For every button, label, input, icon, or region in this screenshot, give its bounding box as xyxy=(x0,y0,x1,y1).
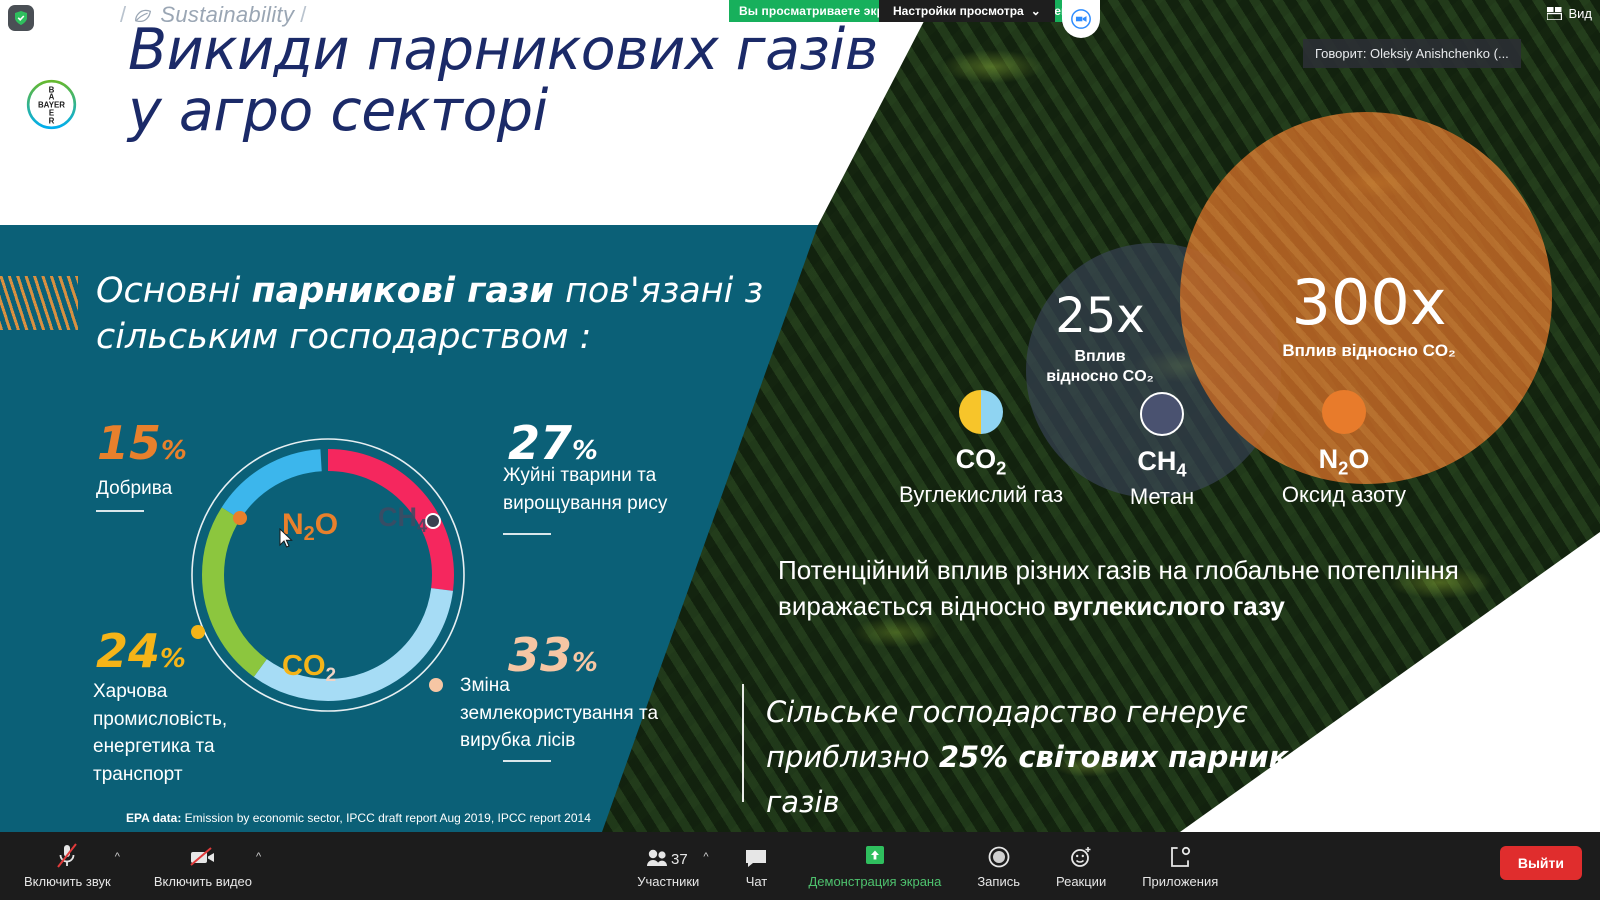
record-label: Запись xyxy=(977,874,1020,889)
quote-accent-bar xyxy=(742,684,744,802)
participants-button[interactable]: 37 Участники xyxy=(637,843,699,889)
co2-formula: CO2 xyxy=(888,446,1074,478)
marker-24 xyxy=(191,625,205,639)
n2o-formula: N2O xyxy=(1258,446,1430,478)
source-citation: EPA data: Emission by economic sector, I… xyxy=(126,811,591,825)
view-settings-label: Настройки просмотра xyxy=(893,4,1024,18)
slide-title-line1: Викиди парникових газів xyxy=(128,17,878,83)
shared-slide: B A BAYER E R / Sustainability / Викиди … xyxy=(0,0,1600,832)
quote-bold: 25% світових парникових xyxy=(939,740,1366,774)
audio-options-caret[interactable]: ^ xyxy=(115,851,120,863)
section-heading-pre: Основні xyxy=(96,271,251,311)
share-screen-icon xyxy=(862,843,888,869)
n2o-sub: Вплив відносно CO₂ xyxy=(1238,341,1500,362)
n2o-multiplier: 300х xyxy=(1238,272,1500,334)
apps-label: Приложения xyxy=(1142,874,1218,889)
active-speaker-text: Говорит: Oleksiy Anishchenko (... xyxy=(1315,46,1509,61)
donut-rule-15 xyxy=(96,510,144,512)
marker-27 xyxy=(426,514,440,528)
donut-value-27: 27% xyxy=(508,420,598,466)
n2o-dot-icon xyxy=(1322,390,1366,434)
ch4-formula: CH4 xyxy=(1100,448,1224,480)
venn-label-n2o: 300х Вплив відносно CO₂ xyxy=(1238,272,1500,362)
reactions-button[interactable]: Реакции xyxy=(1056,843,1106,889)
venn-label-ch4: 25х Вплив відносно CO₂ xyxy=(1040,292,1160,386)
gas-legend-co2: CO2 Вуглекислий газ xyxy=(888,390,1074,508)
video-options-caret[interactable]: ^ xyxy=(256,851,261,863)
start-video-button[interactable]: Включить видео xyxy=(154,843,252,889)
co2-name: Вуглекислий газ xyxy=(888,482,1074,508)
start-video-label: Включить видео xyxy=(154,874,252,889)
donut-value-24: 24% xyxy=(96,628,186,674)
section-heading-bold: парникові гази xyxy=(251,271,553,311)
source-bold: EPA data: xyxy=(126,811,181,825)
gwp-note: Потенційний вплив різних газів на глобал… xyxy=(778,552,1494,625)
unmute-button[interactable]: Включить звук xyxy=(24,843,111,889)
share-screen-label: Демонстрация экрана xyxy=(808,874,941,889)
share-screen-button[interactable]: Демонстрация экрана xyxy=(808,843,941,889)
donut-rule-27 xyxy=(503,533,551,535)
donut-label-15: Добрива xyxy=(96,475,286,503)
donut-label-27: Жуйні тварини та вирощування рису xyxy=(503,462,703,517)
screen: B A BAYER E R / Sustainability / Викиди … xyxy=(0,0,1600,900)
view-layout-button[interactable]: Вид xyxy=(1547,6,1592,21)
reactions-label: Реакции xyxy=(1056,874,1106,889)
svg-text:37: 37 xyxy=(671,851,688,868)
chat-icon xyxy=(744,843,768,869)
camera-muted-icon xyxy=(189,843,217,869)
chat-button[interactable]: Чат xyxy=(744,843,768,889)
apps-button[interactable]: Приложения xyxy=(1142,843,1218,889)
bayer-logo: B A BAYER E R xyxy=(25,78,78,131)
gwp-note-bold: вуглекислого газу xyxy=(1053,591,1285,621)
donut-label-33: Зміна землекористування та вирубка лісів xyxy=(460,672,660,755)
agriculture-quote: Сільське господарство генерує приблизно … xyxy=(766,690,1406,825)
leave-meeting-button[interactable]: Выйти xyxy=(1500,846,1582,880)
marker-15 xyxy=(233,511,247,525)
participants-label: Участники xyxy=(637,874,699,889)
reactions-icon xyxy=(1069,843,1093,869)
microphone-muted-icon xyxy=(55,843,79,869)
unmute-label: Включить звук xyxy=(24,874,111,889)
record-button[interactable]: Запись xyxy=(977,843,1020,889)
donut-rule-33 xyxy=(503,760,551,762)
record-icon xyxy=(987,843,1011,869)
participants-icon: 37 xyxy=(646,843,690,869)
donut-label-24: Харчова промисловість, енергетика та тра… xyxy=(93,678,283,789)
donut-value-15: 15% xyxy=(97,420,187,466)
marker-33 xyxy=(429,678,443,692)
zoom-logo-bubble xyxy=(1062,0,1100,38)
ch4-multiplier: 25х xyxy=(1040,292,1160,340)
zoom-camera-icon xyxy=(1070,8,1092,30)
ch4-sub: Вплив відносно CO₂ xyxy=(1040,347,1160,386)
slide-title-line2: у агро секторі xyxy=(128,83,948,140)
view-label: Вид xyxy=(1568,6,1592,21)
gas-legend-ch4: CH4 Метан xyxy=(1100,392,1224,510)
apps-icon xyxy=(1168,843,1192,869)
participants-caret[interactable]: ^ xyxy=(703,851,708,863)
chat-label: Чат xyxy=(746,874,768,889)
source-rest: Emission by economic sector, IPCC draft … xyxy=(181,811,591,825)
ch4-name: Метан xyxy=(1100,484,1224,510)
bracket-left: / xyxy=(120,2,126,28)
svg-text:CO2: CO2 xyxy=(282,650,336,686)
chevron-down-icon: ⌄ xyxy=(1031,4,1041,18)
co2-dot-icon xyxy=(959,390,1003,434)
hatch-decoration xyxy=(0,276,78,330)
zoom-toolbar: Включить звук ^ Включить видео ^ xyxy=(0,832,1600,900)
grid-view-icon xyxy=(1547,7,1562,20)
view-settings-button[interactable]: Настройки просмотра ⌄ xyxy=(879,0,1055,22)
ch4-dot-icon xyxy=(1140,392,1184,436)
section-heading: Основні парникові гази пов'язані з сільс… xyxy=(96,268,796,360)
quote-post: газів xyxy=(766,785,840,819)
slide-title: Викиди парникових газів у агро секторі xyxy=(128,22,948,140)
n2o-name: Оксид азоту xyxy=(1258,482,1430,508)
active-speaker-toast: Говорит: Oleksiy Anishchenko (... xyxy=(1303,39,1521,68)
greenhouse-gas-donut-chart: N2O CH4 CO2 xyxy=(178,430,488,720)
security-shield-icon[interactable] xyxy=(8,5,34,31)
gas-legend-n2o: N2O Оксид азоту xyxy=(1258,390,1430,508)
mouse-cursor xyxy=(279,528,293,548)
svg-text:R: R xyxy=(49,117,55,126)
